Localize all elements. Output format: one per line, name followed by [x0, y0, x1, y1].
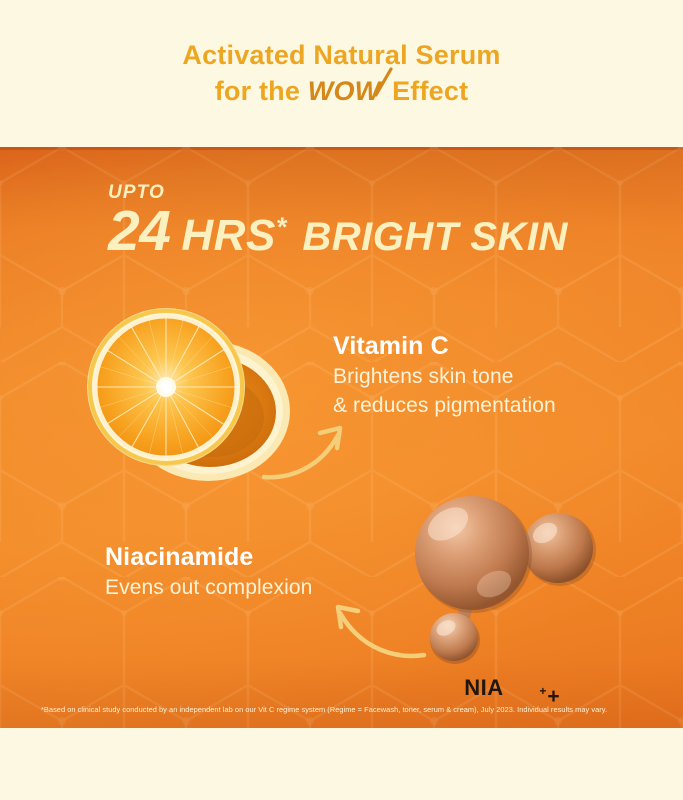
ingredient-desc-vitamin-c-line-2: & reduces pigmentation [333, 393, 556, 419]
molecule-sphere-small [430, 613, 480, 664]
header-band: Activated Natural Serum for the WOW Effe… [0, 0, 683, 147]
header-line2-suffix: Effect [384, 76, 468, 106]
molecule-sphere-charge [523, 513, 596, 586]
wow-label: WOW [308, 76, 381, 106]
headline-unit: HRS [181, 214, 275, 258]
headline-main-row: 24 HRS * BRIGHT SKIN [108, 203, 568, 260]
headline-block: UPTO 24 HRS * BRIGHT SKIN [108, 183, 568, 260]
molecule-main-label: NIA [447, 675, 521, 701]
molecule-sphere-main [415, 496, 532, 613]
ingredient-vitamin-c: Vitamin C Brightens skin tone & reduces … [333, 332, 556, 420]
ingredient-title-vitamin-c: Vitamin C [333, 332, 556, 361]
wow-emphasis: WOW [308, 74, 385, 110]
headline-upto-label: UPTO [108, 183, 568, 202]
niacinamide-molecule-icon [408, 492, 598, 667]
header-line2-prefix: for the [215, 76, 308, 106]
arrow-to-vitamin-c-icon [258, 415, 368, 487]
header-title-line-1: Activated Natural Serum [182, 38, 500, 74]
ingredient-desc-vitamin-c-line-1: Brightens skin tone [333, 364, 556, 390]
disclaimer-text: *Based on clinical study conducted by an… [41, 705, 656, 714]
headline-benefit: BRIGHT SKIN [302, 217, 568, 257]
ingredient-desc-niacinamide-line-1: Evens out complexion [105, 575, 312, 601]
molecule-charge-superscript: + [539, 684, 547, 698]
orange-slice-front [87, 308, 245, 466]
header-title-line-2: for the WOW Effect [215, 74, 469, 110]
ingredient-title-niacinamide: Niacinamide [105, 543, 312, 572]
headline-asterisk: * [276, 214, 287, 241]
product-infographic: Activated Natural Serum for the WOW Effe… [0, 0, 683, 800]
headline-number: 24 [108, 203, 170, 260]
panel-top-divider [0, 147, 683, 150]
main-orange-panel: UPTO 24 HRS * BRIGHT SKIN [0, 147, 683, 728]
ingredient-niacinamide: Niacinamide Evens out complexion [105, 543, 312, 601]
